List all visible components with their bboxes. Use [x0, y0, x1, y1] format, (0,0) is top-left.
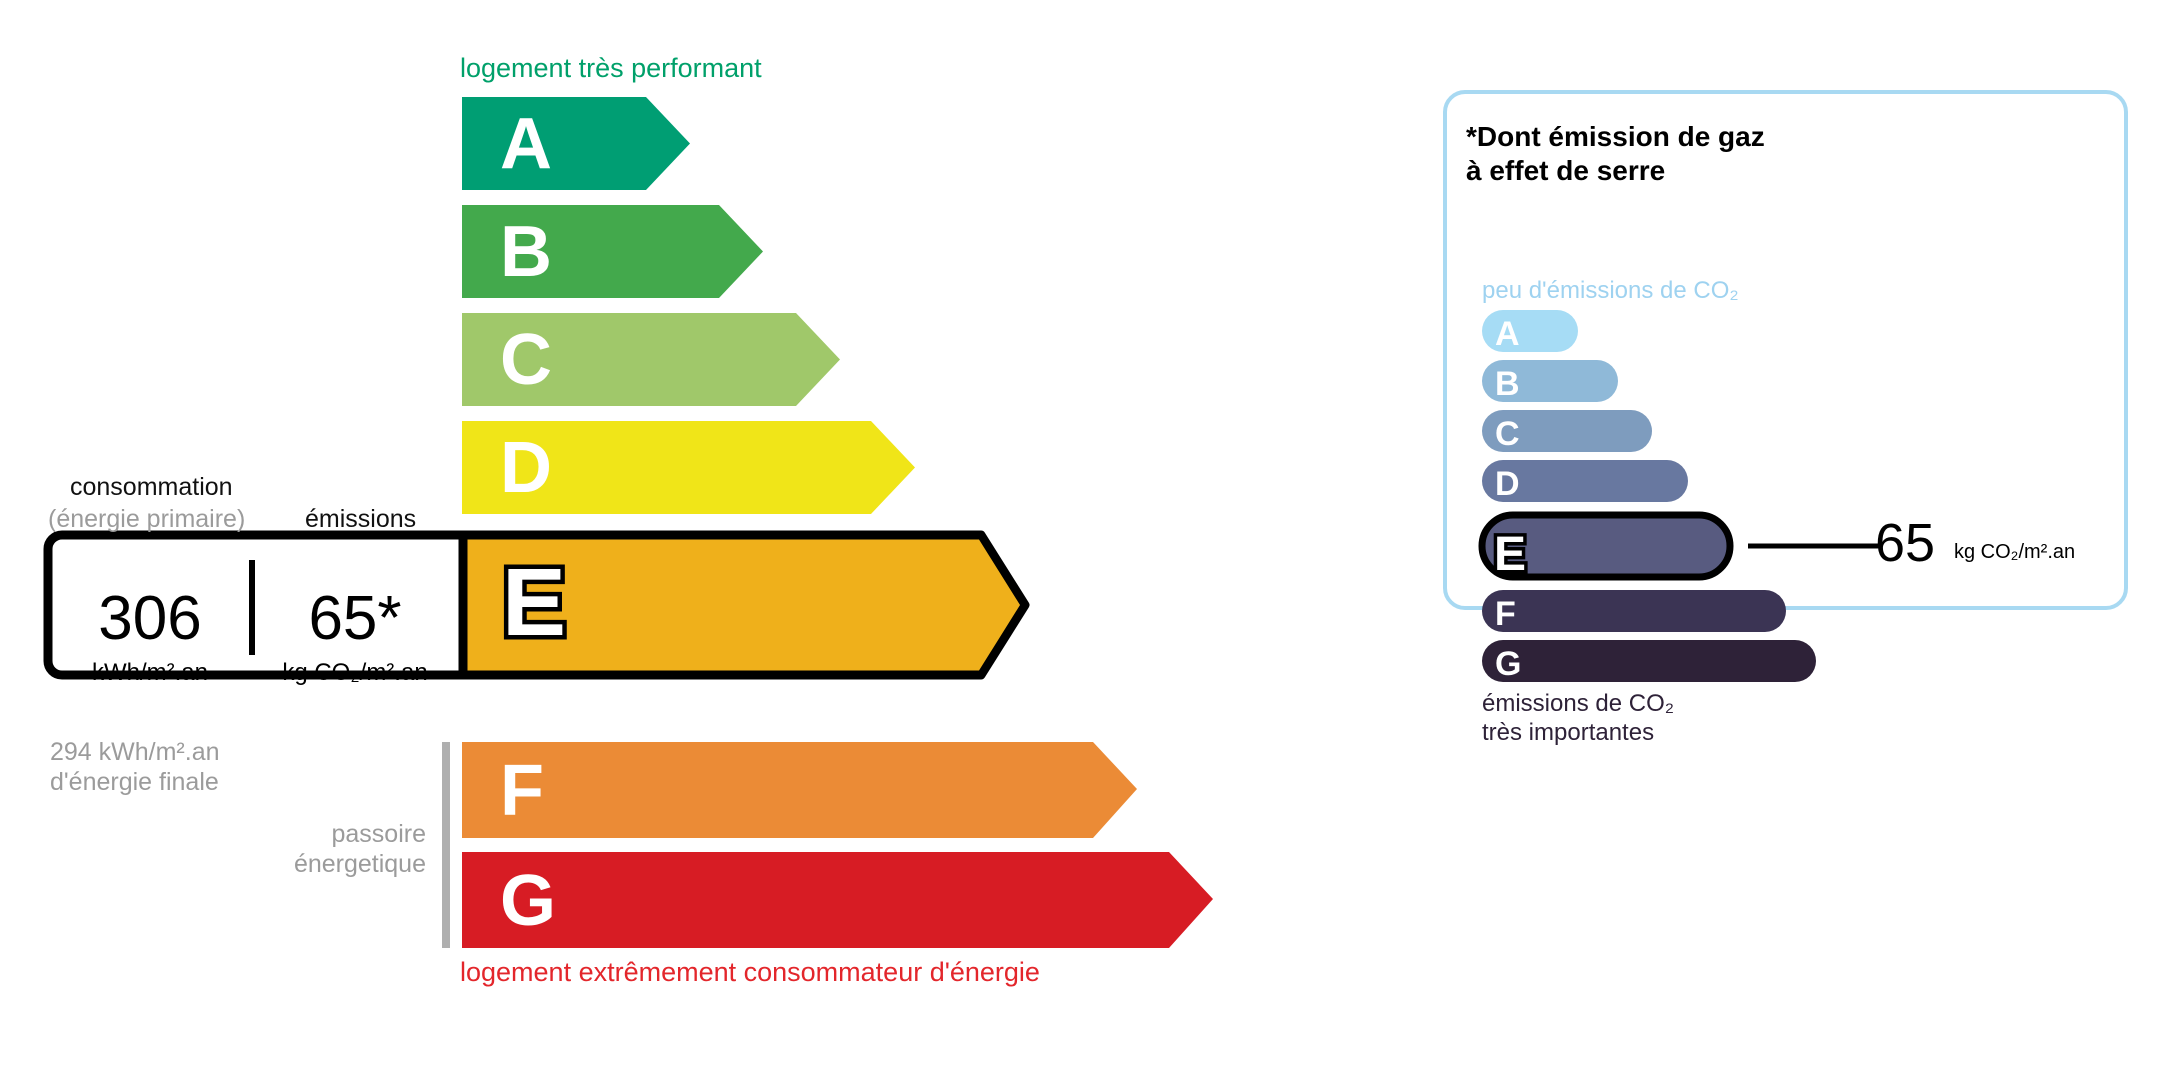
- co2-bars: E: [0, 0, 2169, 1079]
- co2-value-unit: kg CO₂/m².an: [1954, 541, 2075, 564]
- co2-bar-g[interactable]: [1482, 640, 1816, 682]
- co2-letter-a: A: [1495, 317, 1520, 351]
- co2-letter-f: F: [1495, 597, 1516, 631]
- co2-letter-g: G: [1495, 647, 1521, 681]
- co2-caption-bottom: émissions de CO₂ très importantes: [1482, 690, 1674, 748]
- co2-letter-c: C: [1495, 417, 1520, 451]
- co2-letter-d: D: [1495, 467, 1520, 501]
- co2-value: 65: [1875, 512, 1935, 574]
- co2-letter-b: B: [1495, 367, 1520, 401]
- co2-letter-e: E: [1494, 528, 1526, 581]
- dpe-diagram: logement très performant E A: [0, 0, 2169, 1079]
- co2-bar-f[interactable]: [1482, 590, 1786, 632]
